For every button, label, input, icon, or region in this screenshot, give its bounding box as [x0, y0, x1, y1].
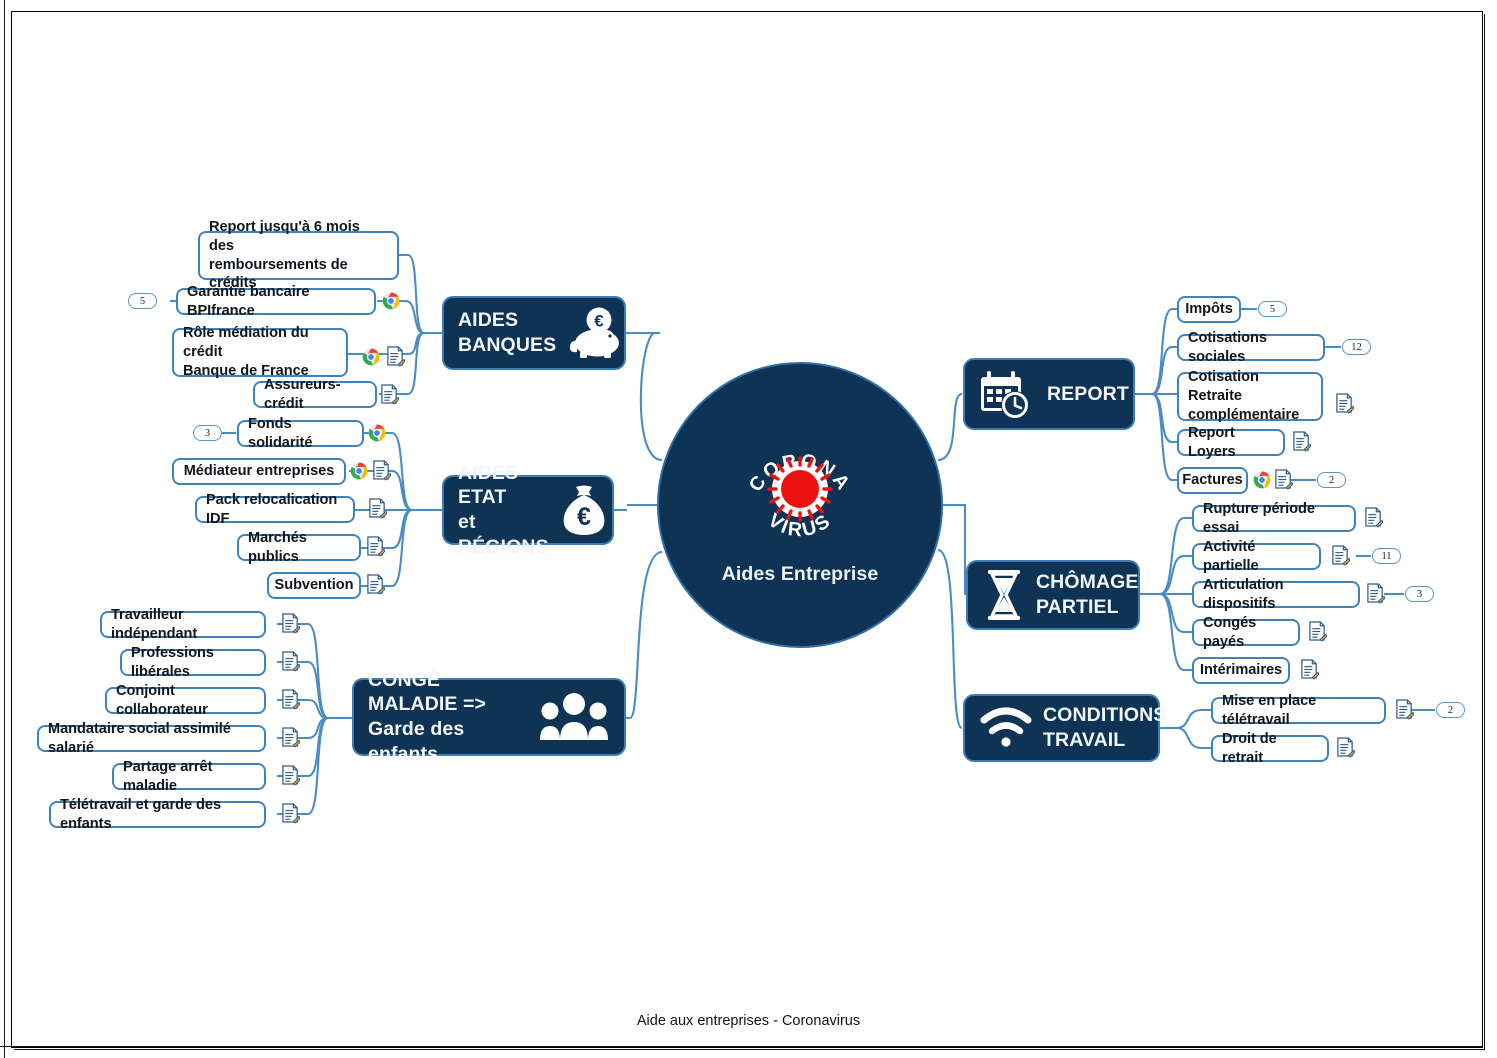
badge-count[interactable]: 3: [193, 425, 222, 441]
leaf-pack-relocalication-idf[interactable]: Pack relocalication IDF: [195, 496, 355, 523]
leaf-impots[interactable]: Impôts: [1177, 296, 1241, 323]
leaf-label: Factures: [1182, 471, 1242, 490]
note-icon[interactable]: [1300, 659, 1319, 680]
chrome-icon[interactable]: [350, 462, 368, 480]
leaf-fonds-solidarite[interactable]: Fonds solidarité: [237, 420, 364, 447]
leaf-rupture-periode-essai[interactable]: Rupture période essai: [1192, 505, 1356, 532]
leaf-mise-en-place-teletravail[interactable]: Mise en place télétravail: [1211, 697, 1386, 724]
leaf-label: Pack relocalication IDF: [206, 491, 344, 529]
badge-count[interactable]: 5: [128, 293, 157, 309]
branch-node-chomage-partiel[interactable]: CHÔMAGE PARTIEL: [966, 560, 1140, 630]
leaf-label: Télétravail et garde des enfants: [60, 796, 255, 834]
note-icon[interactable]: [281, 689, 300, 710]
leaf-activite-partielle[interactable]: Activité partielle: [1192, 543, 1321, 570]
note-icon[interactable]: [372, 460, 391, 481]
leaf-label: Subvention: [275, 576, 354, 595]
note-icon[interactable]: [368, 498, 387, 519]
leaf-label: Cotisations sociales: [1188, 329, 1314, 367]
note-icon[interactable]: [1366, 583, 1385, 604]
svg-text:€: €: [577, 503, 591, 531]
hourglass-icon: [982, 568, 1026, 622]
central-node[interactable]: CORONA VIRUS Aides Entreprise: [657, 362, 943, 648]
leaf-label: Articulation dispositifs: [1203, 576, 1349, 614]
note-icon[interactable]: [281, 803, 300, 824]
leaf-conges-payes[interactable]: Congés payés: [1192, 619, 1300, 646]
note-icon[interactable]: [1308, 621, 1327, 642]
branch-node-aides-etat-regions[interactable]: AIDES ETAT et RÉGIONS €: [442, 475, 614, 545]
footer-caption: Aide aux entreprises - Coronavirus: [0, 1013, 1497, 1029]
leaf-label: Garantie bancaire BPIfrance: [187, 283, 365, 321]
note-icon[interactable]: [281, 613, 300, 634]
leaf-label: Cotisation Retraite complémentaire: [1188, 368, 1312, 425]
leaf-label: Travailleur indépendant: [111, 606, 255, 644]
branch-node-conditions-travail[interactable]: CONDITIONS TRAVAIL: [963, 694, 1160, 762]
branch-node-report[interactable]: REPORT: [963, 358, 1135, 430]
note-icon[interactable]: [366, 574, 385, 595]
leaf-cotisation-retraite[interactable]: Cotisation Retraite complémentaire: [1177, 372, 1323, 421]
leaf-label: Fonds solidarité: [248, 415, 353, 453]
leaf-factures[interactable]: Factures: [1177, 467, 1248, 494]
money-bag-euro-icon: €: [559, 483, 609, 537]
leaf-label: Rôle médiation du crédit Banque de Franc…: [183, 324, 337, 381]
note-icon[interactable]: [281, 651, 300, 672]
leaf-label: Conjoint collaborateur: [116, 682, 255, 720]
leaf-mandataire-social[interactable]: Mandataire social assimilé salarié: [37, 725, 266, 752]
chrome-icon[interactable]: [368, 424, 386, 442]
svg-text:€: €: [594, 312, 604, 331]
leaf-label: Rupture période essai: [1203, 500, 1345, 538]
note-icon[interactable]: [380, 384, 399, 405]
leaf-cotisations-sociales[interactable]: Cotisations sociales: [1177, 334, 1325, 361]
leaf-subvention[interactable]: Subvention: [267, 572, 361, 599]
footer-rule: [0, 1046, 1483, 1047]
coronavirus-icon: CORONA VIRUS: [737, 427, 863, 553]
central-node-title: Aides Entreprise: [722, 562, 879, 587]
badge-count[interactable]: 5: [1258, 301, 1287, 317]
three-people-icon: [538, 692, 610, 742]
leaf-label: Médiateur entreprises: [184, 462, 335, 481]
leaf-label: Professions libérales: [131, 644, 255, 682]
note-icon[interactable]: [1395, 699, 1414, 720]
note-icon[interactable]: [1331, 545, 1350, 566]
leaf-label: Intérimaires: [1200, 661, 1282, 680]
leaf-partage-arret-maladie[interactable]: Partage arrêt maladie: [112, 763, 266, 790]
branch-node-aides-banques[interactable]: AIDES BANQUES €: [442, 296, 626, 370]
badge-count[interactable]: 12: [1342, 339, 1371, 355]
branch-label: REPORT: [1047, 382, 1129, 407]
branch-label: AIDES ETAT et RÉGIONS: [458, 461, 549, 559]
leaf-marches-publics[interactable]: Marchés publics: [237, 534, 361, 561]
leaf-conjoint-collaborateur[interactable]: Conjoint collaborateur: [105, 687, 266, 714]
leaf-role-mediation-credit[interactable]: Rôle médiation du crédit Banque de Franc…: [172, 328, 348, 377]
note-icon[interactable]: [1335, 393, 1354, 414]
note-icon[interactable]: [281, 727, 300, 748]
leaf-professions-liberales[interactable]: Professions libérales: [120, 649, 266, 676]
chrome-icon[interactable]: [382, 292, 400, 310]
leaf-label: Activité partielle: [1203, 538, 1310, 576]
leaf-mediateur-entreprises[interactable]: Médiateur entreprises: [172, 458, 346, 485]
note-icon[interactable]: [366, 536, 385, 557]
chrome-icon[interactable]: [1253, 471, 1271, 489]
note-icon[interactable]: [1274, 469, 1293, 490]
leaf-assureurs-credit[interactable]: Assureurs-crédit: [253, 381, 377, 408]
leaf-label: Marchés publics: [248, 529, 350, 567]
leaf-label: Assureurs-crédit: [264, 376, 366, 414]
leaf-report-credits[interactable]: Report jusqu'à 6 mois des remboursements…: [198, 231, 399, 280]
leaf-label: Report Loyers: [1188, 424, 1274, 462]
branch-label: CONGÉ MALADIE => Garde des enfants: [368, 668, 528, 766]
note-icon[interactable]: [281, 765, 300, 786]
branch-label: AIDES BANQUES: [458, 308, 556, 357]
leaf-interimaires[interactable]: Intérimaires: [1192, 657, 1290, 684]
branch-node-conge-maladie[interactable]: CONGÉ MALADIE => Garde des enfants: [352, 678, 626, 756]
leaf-label: Partage arrêt maladie: [123, 758, 255, 796]
badge-count[interactable]: 2: [1436, 702, 1465, 718]
leaf-teletravail-garde-enfants[interactable]: Télétravail et garde des enfants: [49, 801, 266, 828]
branch-label: CONDITIONS TRAVAIL: [1043, 703, 1166, 752]
leaf-label: Mandataire social assimilé salarié: [48, 720, 255, 758]
calendar-clock-icon: [979, 367, 1037, 421]
badge-count[interactable]: 2: [1317, 472, 1346, 488]
note-icon[interactable]: [1292, 431, 1311, 452]
leaf-label: Droit de retrait: [1222, 730, 1318, 768]
leaf-travailleur-independant[interactable]: Travailleur indépendant: [100, 611, 266, 638]
note-icon[interactable]: [386, 346, 405, 367]
badge-count[interactable]: 3: [1405, 586, 1434, 602]
leaf-label: Congés payés: [1203, 614, 1289, 652]
note-icon[interactable]: [1336, 737, 1355, 758]
badge-count[interactable]: 11: [1372, 548, 1401, 564]
wifi-icon: [979, 707, 1033, 749]
leaf-label: Mise en place télétravail: [1222, 692, 1375, 730]
leaf-garantie-bpifrance[interactable]: Garantie bancaire BPIfrance: [176, 288, 376, 315]
leaf-report-loyers[interactable]: Report Loyers: [1177, 429, 1285, 456]
leaf-label: Impôts: [1185, 300, 1233, 319]
leaf-articulation-dispositifs[interactable]: Articulation dispositifs: [1192, 581, 1360, 608]
note-icon[interactable]: [1364, 507, 1383, 528]
branch-label: CHÔMAGE PARTIEL: [1036, 570, 1139, 619]
leaf-droit-de-retrait[interactable]: Droit de retrait: [1211, 735, 1329, 762]
chrome-icon[interactable]: [362, 348, 380, 366]
piggy-bank-euro-icon: €: [566, 307, 628, 359]
